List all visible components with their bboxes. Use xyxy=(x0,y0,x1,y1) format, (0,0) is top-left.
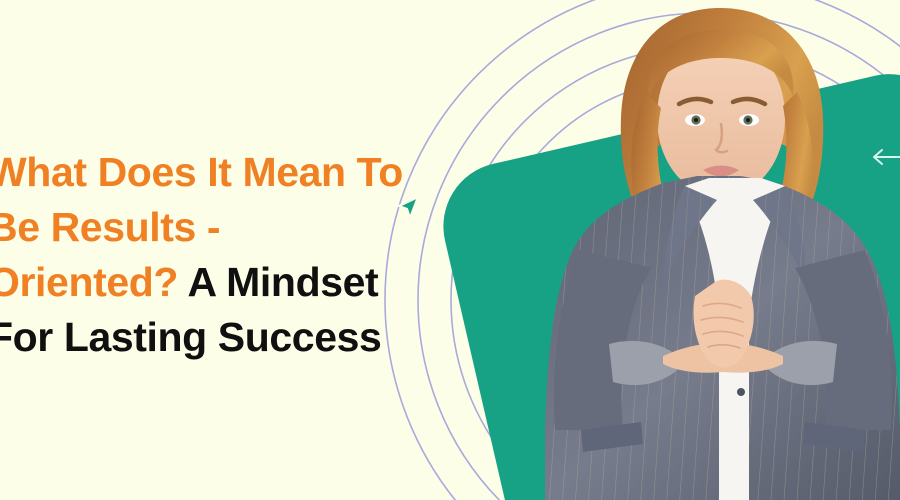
mouse-pointer-icon xyxy=(396,194,422,224)
headline-line-2: Be Results - xyxy=(0,200,458,255)
headline-line-1: What Does It Mean To xyxy=(0,145,458,200)
headline-line-3-accent: Oriented? xyxy=(0,259,178,305)
page-title: What Does It Mean To Be Results - Orient… xyxy=(0,145,458,365)
headline-line-3: Oriented? A Mindset xyxy=(0,255,458,310)
headline-line-4: For Lasting Success xyxy=(0,310,458,365)
blog-hero-banner: What Does It Mean To Be Results - Orient… xyxy=(0,0,900,500)
headline-line-3-dark: A Mindset xyxy=(178,259,378,305)
arrow-left-icon xyxy=(871,148,900,166)
subject-photo xyxy=(545,0,900,500)
previous-slide-arrow[interactable] xyxy=(860,138,900,175)
